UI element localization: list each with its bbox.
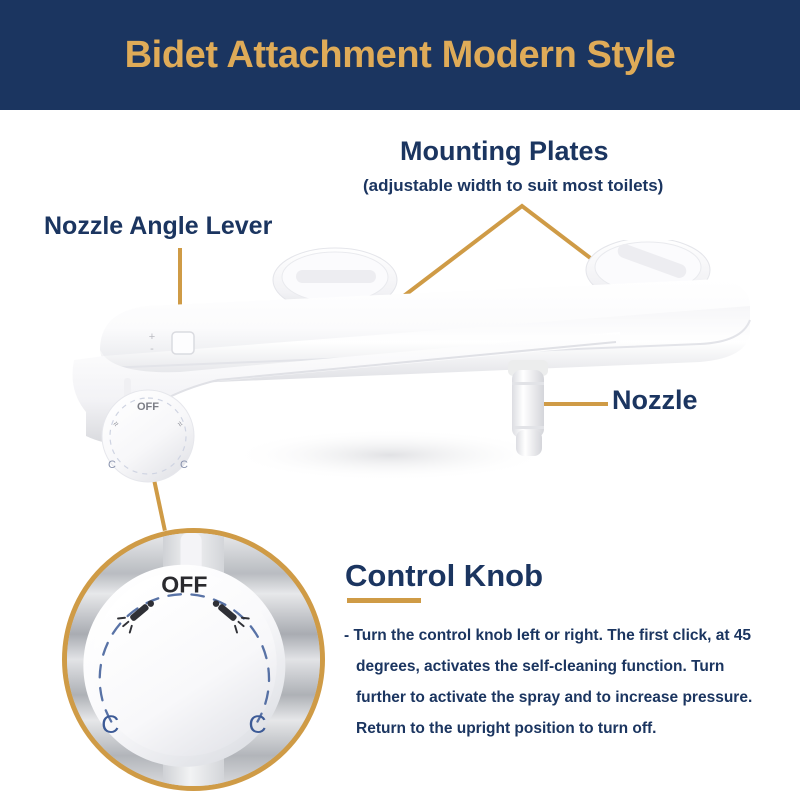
knob-mark-left-c: C — [101, 711, 119, 739]
bidet-attachment-illustration: + - OFF ≈ ≈ C C — [60, 240, 760, 500]
svg-text:OFF: OFF — [137, 401, 159, 413]
label-nozzle-angle-lever: Nozzle Angle Lever — [44, 212, 272, 241]
magnified-knob-drawing: OFF C C — [67, 533, 320, 786]
description-line-1: - Turn the control knob left or right. T… — [344, 620, 794, 651]
description-line-2: degrees, activates the self-cleaning fun… — [344, 651, 794, 682]
svg-text:C: C — [180, 459, 188, 471]
control-knob-description: - Turn the control knob left or right. T… — [344, 620, 794, 744]
infographic-page: Bidet Attachment Modern Style Mounting P… — [0, 0, 800, 800]
knob-off-label: OFF — [161, 572, 207, 598]
control-knob-magnifier: OFF C C — [62, 528, 325, 791]
svg-text:C: C — [108, 459, 116, 471]
page-title: Bidet Attachment Modern Style — [0, 0, 800, 110]
svg-text:+: + — [149, 331, 155, 343]
section-heading-underline — [347, 598, 421, 603]
description-line-4: Return to the upright position to turn o… — [344, 713, 794, 744]
description-line-3: further to activate the spray and to inc… — [344, 682, 794, 713]
label-mounting-plates-subtitle: (adjustable width to suit most toilets) — [363, 176, 663, 196]
section-heading-control-knob: Control Knob — [345, 558, 543, 594]
knob-mark-right-c: C — [248, 711, 266, 739]
label-mounting-plates: Mounting Plates — [400, 136, 609, 167]
svg-text:-: - — [150, 343, 154, 355]
